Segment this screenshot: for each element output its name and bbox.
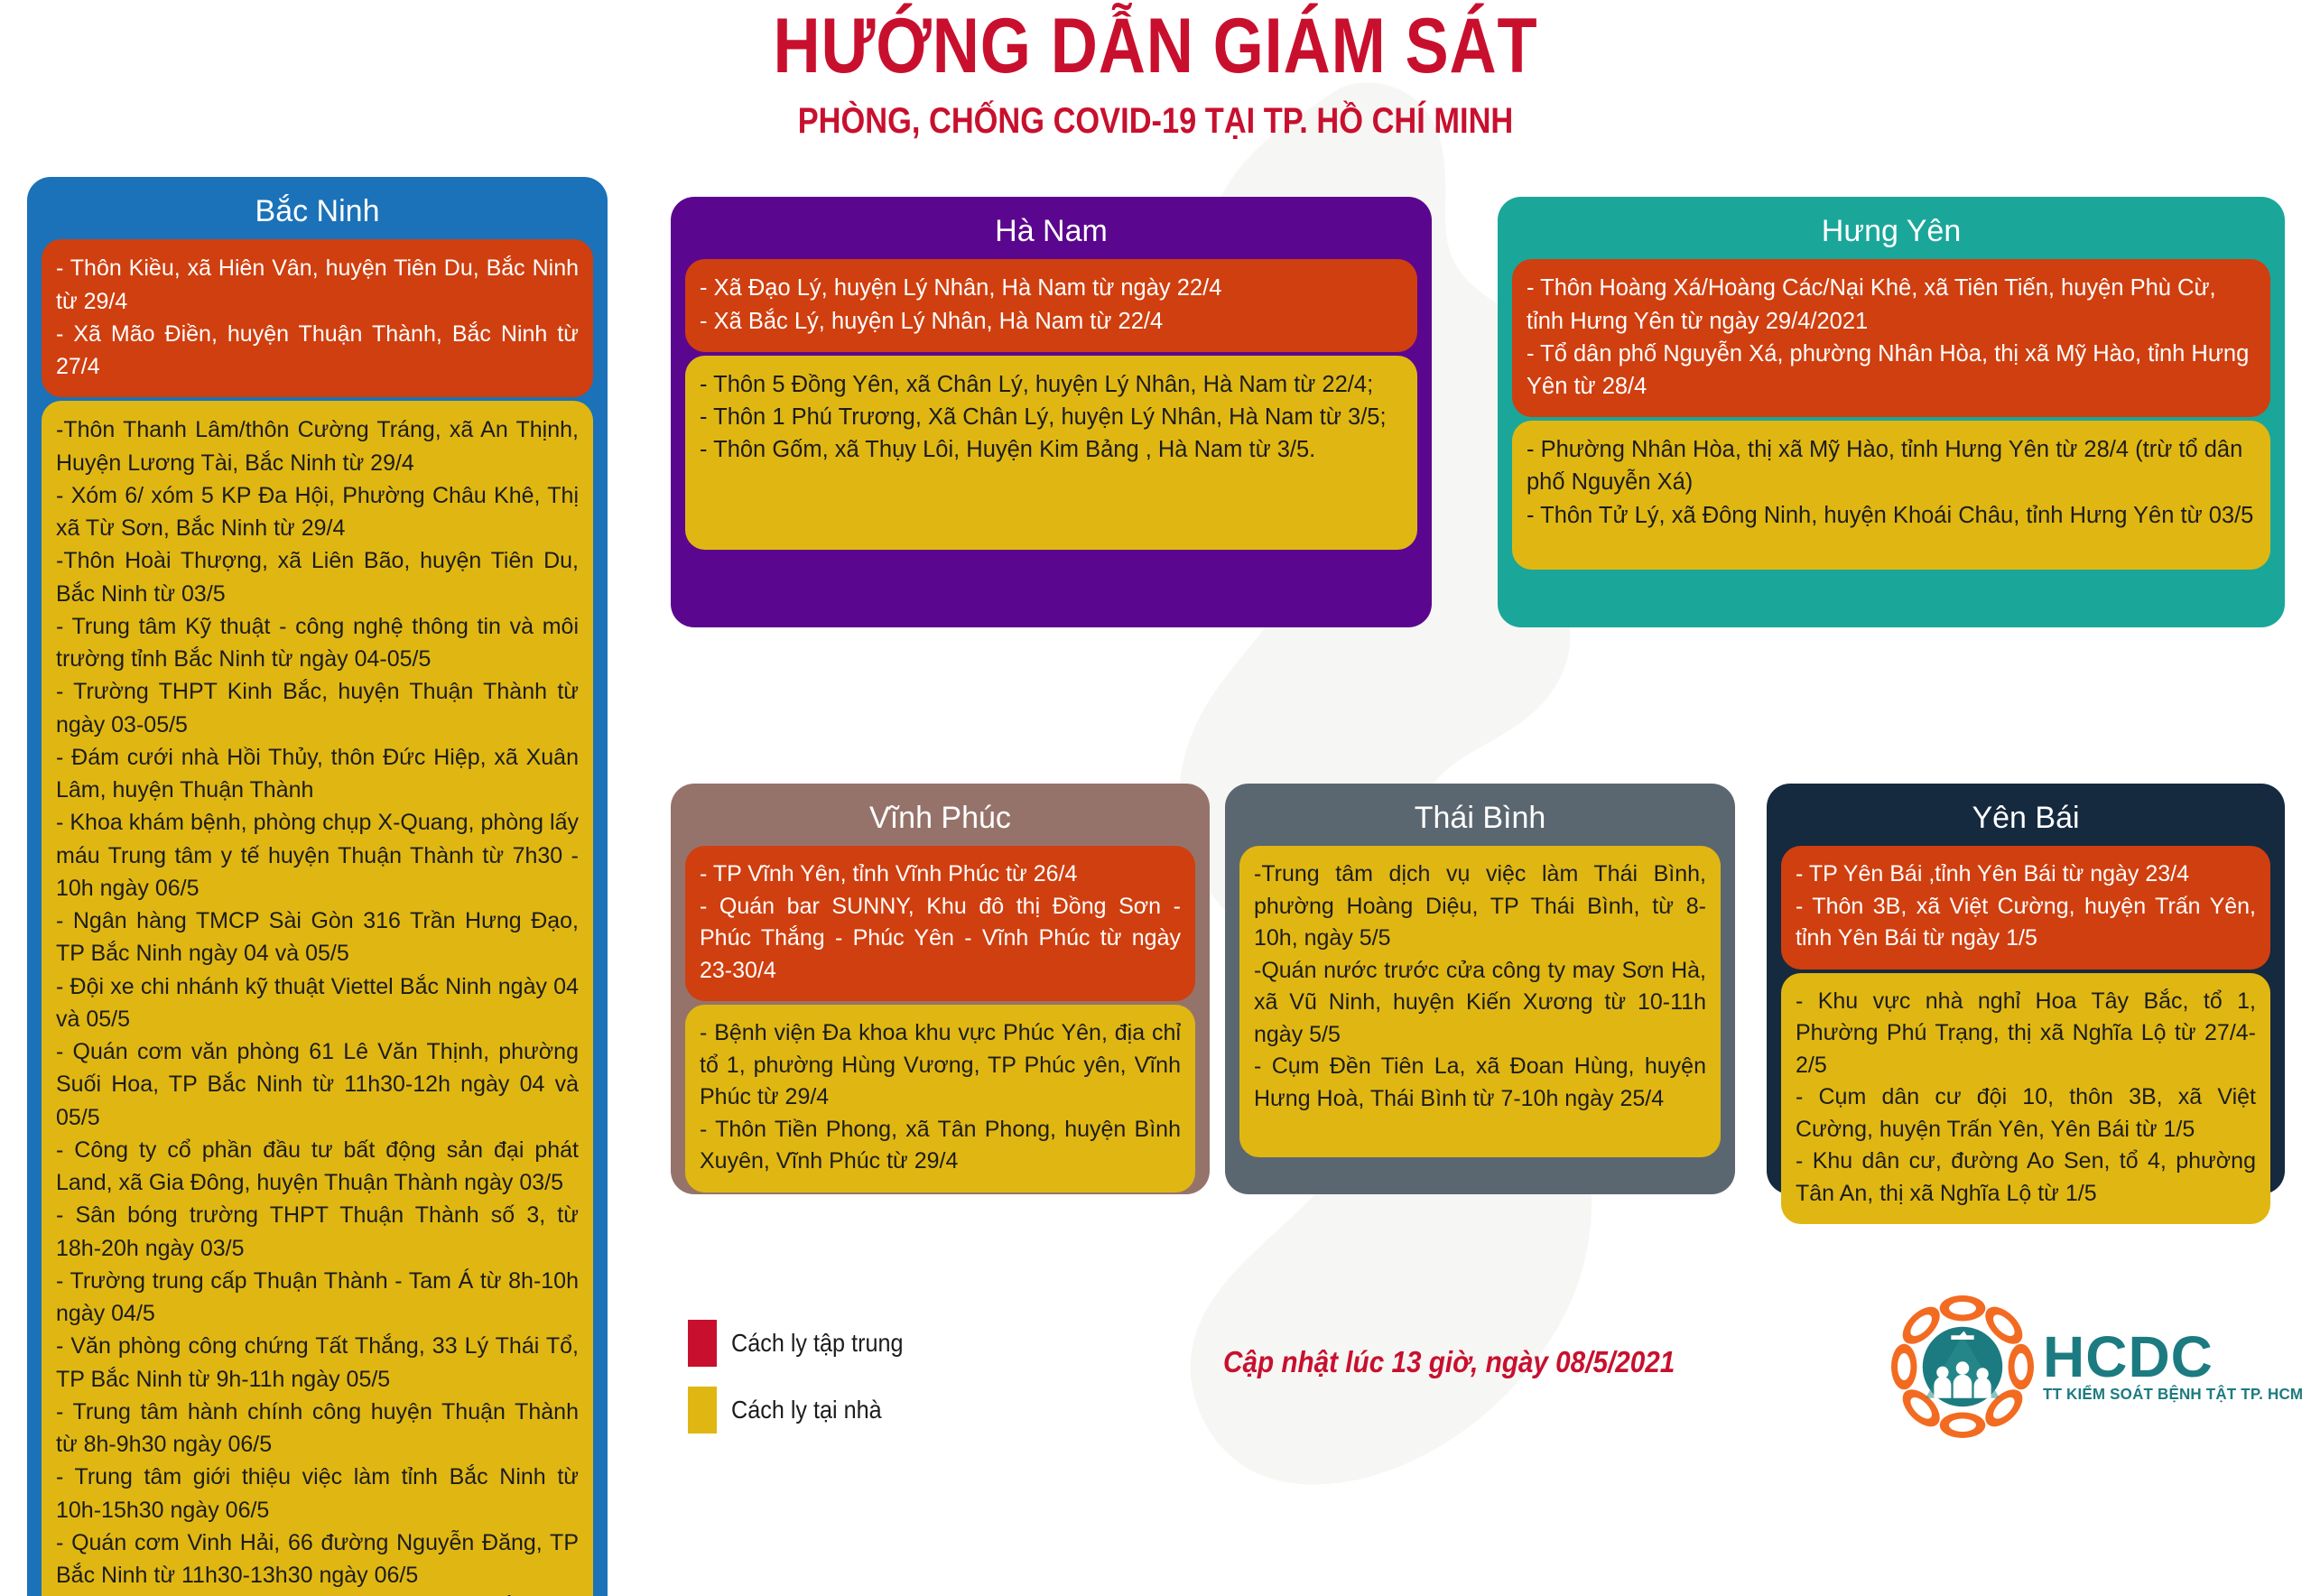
province-title-ha-nam: Hà Nam xyxy=(685,209,1417,259)
home-quarantine-list-yen-bai: - Khu vực nhà nghỉ Hoa Tây Bắc, tổ 1, Ph… xyxy=(1796,986,2256,1211)
central-quarantine-list-hung-yen: - Thôn Hoàng Xá/Hoàng Các/Nại Khê, xã Ti… xyxy=(1527,272,2256,403)
province-card-thai-binh: Thái Bình -Trung tâm dịch vụ việc làm Th… xyxy=(1225,784,1735,1194)
page-title: HƯỚNG DẪN GIÁM SÁT xyxy=(185,7,2126,85)
legend-swatch-home xyxy=(688,1387,717,1434)
home-quarantine-box-bac-ninh: -Thôn Thanh Lâm/thôn Cường Tráng, xã An … xyxy=(42,401,593,1596)
province-title-vinh-phuc: Vĩnh Phúc xyxy=(685,796,1195,846)
central-quarantine-box-yen-bai: - TP Yên Bái ,tỉnh Yên Bái từ ngày 23/4-… xyxy=(1781,846,2270,970)
province-card-bac-ninh: Bắc Ninh - Thôn Kiều, xã Hiên Vân, huyện… xyxy=(27,177,608,1596)
central-quarantine-list-bac-ninh: - Thôn Kiều, xã Hiên Vân, huyện Tiên Du,… xyxy=(56,252,579,383)
province-card-hung-yen: Hưng Yên - Thôn Hoàng Xá/Hoàng Các/Nại K… xyxy=(1498,197,2285,627)
infographic-page: HƯỚNG DẪN GIÁM SÁT PHÒNG, CHỐNG COVID-19… xyxy=(0,0,2311,1596)
legend-swatch-central xyxy=(688,1320,717,1367)
province-title-bac-ninh: Bắc Ninh xyxy=(42,190,593,239)
home-quarantine-list-hung-yen: - Phường Nhân Hòa, thị xã Mỹ Hào, tỉnh H… xyxy=(1527,433,2256,532)
hcdc-logo: HCDC TT KIỂM SOÁT BỆNH TẬT TP. HCM xyxy=(1891,1295,2311,1438)
home-quarantine-box-hung-yen: - Phường Nhân Hòa, thị xã Mỹ Hào, tỉnh H… xyxy=(1512,421,2270,570)
hcdc-logo-subtitle: TT KIỂM SOÁT BỆNH TẬT TP. HCM xyxy=(2043,1385,2303,1404)
province-card-vinh-phuc: Vĩnh Phúc - TP Vĩnh Yên, tỉnh Vĩnh Phúc … xyxy=(671,784,1210,1194)
home-quarantine-list-bac-ninh: -Thôn Thanh Lâm/thôn Cường Tráng, xã An … xyxy=(56,413,579,1596)
province-card-ha-nam: Hà Nam - Xã Đạo Lý, huyện Lý Nhân, Hà Na… xyxy=(671,197,1432,627)
legend-item-home: Cách ly tại nhà xyxy=(688,1387,923,1434)
central-quarantine-box-ha-nam: - Xã Đạo Lý, huyện Lý Nhân, Hà Nam từ ng… xyxy=(685,259,1417,351)
central-quarantine-box-hung-yen: - Thôn Hoàng Xá/Hoàng Các/Nại Khê, xã Ti… xyxy=(1512,259,2270,417)
hcdc-logo-main: HCDC xyxy=(2043,1330,2311,1385)
updated-timestamp: Cập nhật lúc 13 giờ, ngày 08/5/2021 xyxy=(1223,1345,1675,1379)
province-title-yen-bai: Yên Bái xyxy=(1781,796,2270,846)
header: HƯỚNG DẪN GIÁM SÁT PHÒNG, CHỐNG COVID-19… xyxy=(0,7,2311,142)
home-quarantine-box-thai-binh: -Trung tâm dịch vụ việc làm Thái Bình, p… xyxy=(1239,846,1721,1157)
home-quarantine-box-vinh-phuc: - Bệnh viện Đa khoa khu vực Phúc Yên, đị… xyxy=(685,1005,1195,1192)
hcdc-emblem-icon xyxy=(1891,1295,2034,1438)
legend: Cách ly tập trung Cách ly tại nhà xyxy=(688,1320,923,1453)
central-quarantine-list-yen-bai: - TP Yên Bái ,tỉnh Yên Bái từ ngày 23/4-… xyxy=(1796,858,2256,955)
legend-label-central: Cách ly tập trung xyxy=(731,1329,904,1358)
central-quarantine-list-vinh-phuc: - TP Vĩnh Yên, tỉnh Vĩnh Phúc từ 26/4- Q… xyxy=(700,858,1181,987)
central-quarantine-list-ha-nam: - Xã Đạo Lý, huyện Lý Nhân, Hà Nam từ ng… xyxy=(700,272,1403,337)
province-title-thai-binh: Thái Bình xyxy=(1239,796,1721,846)
home-quarantine-list-vinh-phuc: - Bệnh viện Đa khoa khu vực Phúc Yên, đị… xyxy=(700,1017,1181,1178)
hcdc-logo-text: HCDC TT KIỂM SOÁT BỆNH TẬT TP. HCM xyxy=(2043,1330,2311,1404)
central-quarantine-box-bac-ninh: - Thôn Kiều, xã Hiên Vân, huyện Tiên Du,… xyxy=(42,239,593,397)
page-subtitle: PHÒNG, CHỐNG COVID-19 TẠI TP. HỒ CHÍ MIN… xyxy=(162,101,2149,142)
home-quarantine-list-ha-nam: - Thôn 5 Đồng Yên, xã Chân Lý, huyện Lý … xyxy=(700,368,1403,467)
home-quarantine-box-ha-nam: - Thôn 5 Đồng Yên, xã Chân Lý, huyện Lý … xyxy=(685,356,1417,550)
province-title-hung-yen: Hưng Yên xyxy=(1512,209,2270,259)
home-quarantine-list-thai-binh: -Trung tâm dịch vụ việc làm Thái Bình, p… xyxy=(1254,858,1706,1115)
legend-item-central: Cách ly tập trung xyxy=(688,1320,923,1367)
central-quarantine-box-vinh-phuc: - TP Vĩnh Yên, tỉnh Vĩnh Phúc từ 26/4- Q… xyxy=(685,846,1195,1001)
legend-label-home: Cách ly tại nhà xyxy=(731,1396,882,1424)
province-card-yen-bai: Yên Bái - TP Yên Bái ,tỉnh Yên Bái từ ng… xyxy=(1767,784,2285,1194)
home-quarantine-box-yen-bai: - Khu vực nhà nghỉ Hoa Tây Bắc, tổ 1, Ph… xyxy=(1781,973,2270,1225)
